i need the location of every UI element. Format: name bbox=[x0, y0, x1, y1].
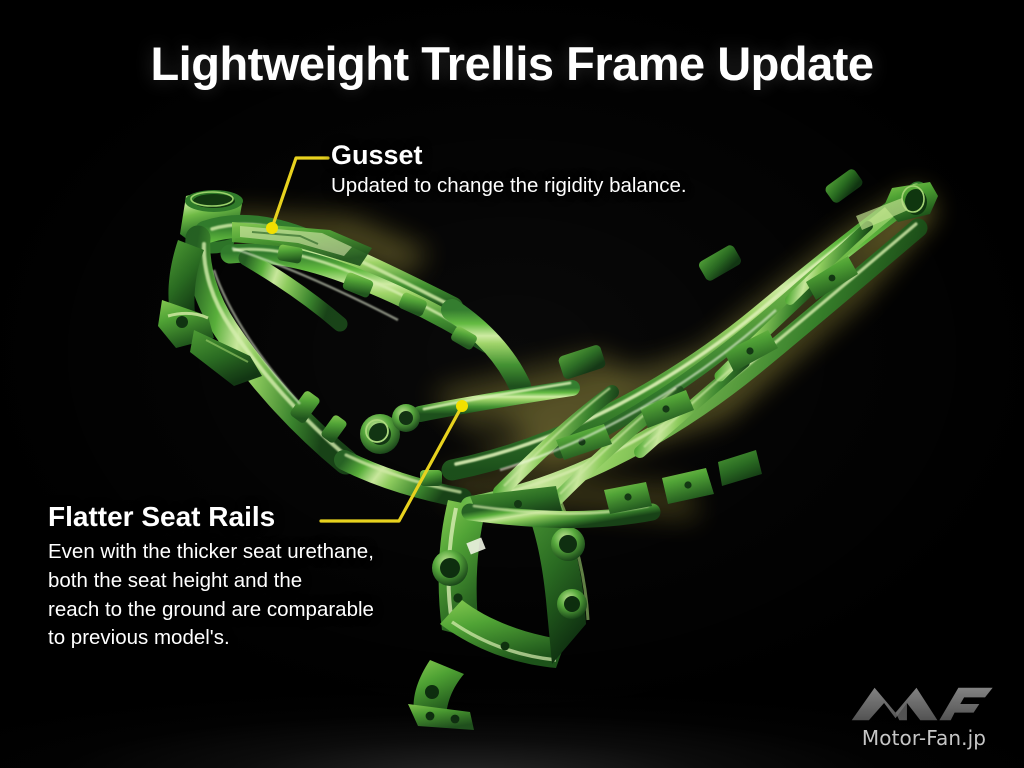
motor-fan-logo: Motor-Fan.jp bbox=[846, 684, 1002, 750]
mf-logo-icon bbox=[846, 684, 998, 724]
callout-line: Even with the thicker seat urethane, bbox=[48, 538, 374, 567]
page-title: Lightweight Trellis Frame Update bbox=[0, 36, 1024, 91]
callout-seat-rails: Flatter Seat Rails Even with the thicker… bbox=[48, 502, 374, 653]
callout-gusset-heading: Gusset bbox=[331, 141, 687, 169]
callout-seat-rails-heading: Flatter Seat Rails bbox=[48, 502, 374, 531]
callout-gusset-body: Updated to change the rigidity balance. bbox=[331, 172, 687, 199]
slide-canvas: Lightweight Trellis Frame Update Gusset … bbox=[0, 0, 1024, 768]
callout-line: reach to the ground are comparable bbox=[48, 596, 374, 625]
callout-seat-rails-body: Even with the thicker seat urethane, bot… bbox=[48, 538, 374, 653]
callout-line: both the seat height and the bbox=[48, 567, 374, 596]
callout-line: to previous model's. bbox=[48, 624, 374, 653]
rear-loop-tube bbox=[452, 310, 520, 386]
logo-wordmark: Motor-Fan.jp bbox=[846, 726, 1002, 750]
callout-gusset: Gusset Updated to change the rigidity ba… bbox=[331, 141, 687, 200]
